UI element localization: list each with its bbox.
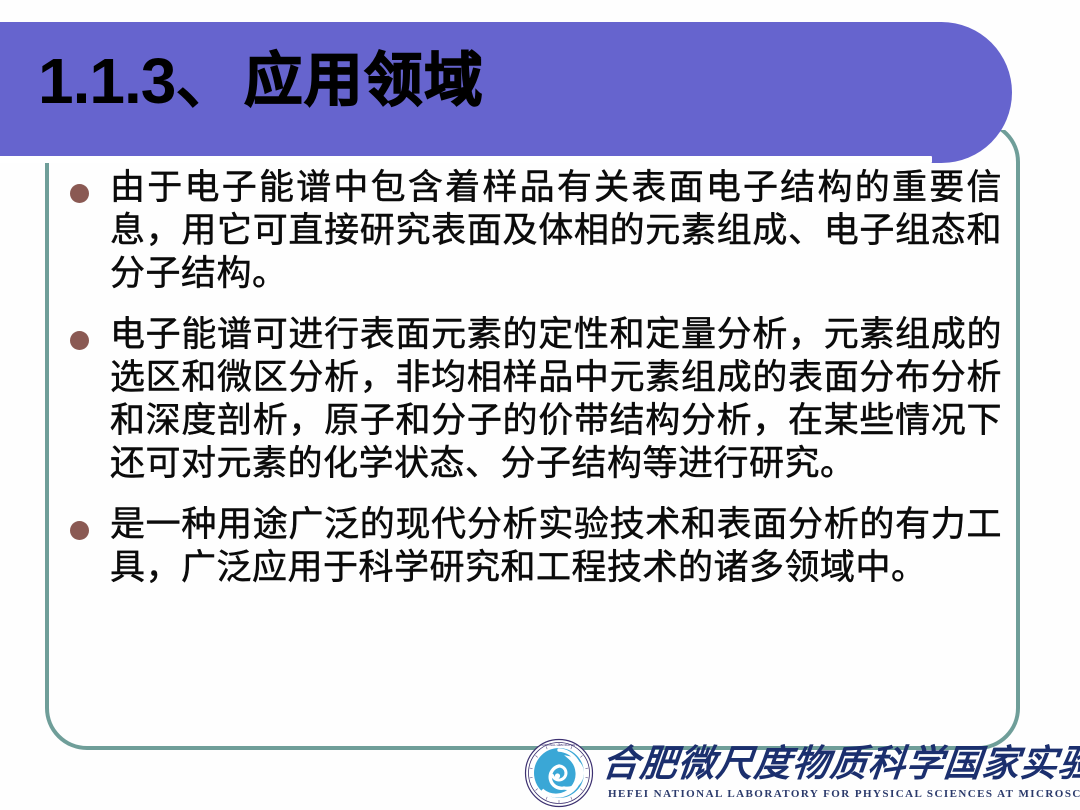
title-number: 1.1.3、 (38, 49, 238, 113)
bullet-text: 由于电子能谱中包含着样品有关表面电子结构的重要信息，用它可直接研究表面及体相的元… (110, 166, 1002, 295)
bullet-dot-icon (70, 184, 89, 203)
page-title: 1.1.3、 应用领域 (38, 38, 938, 124)
list-item: 由于电子能谱中包含着样品有关表面电子结构的重要信息，用它可直接研究表面及体相的元… (62, 166, 1002, 295)
bullet-text: 是一种用途广泛的现代分析实验技术和表面分析的有力工具，广泛应用于科学研究和工程技… (110, 503, 1002, 589)
header-rule-divider (0, 156, 932, 163)
list-item: 电子能谱可进行表面元素的定性和定量分析，元素组成的选区和微区分析，非均相样品中元… (62, 313, 1002, 485)
organization-name-cn: 合肥微尺度物质科学国家实验室(筹) (600, 745, 1080, 785)
bullet-dot-icon (70, 521, 89, 540)
title-heading-cjk: 应用领域 (244, 52, 484, 110)
list-item: 是一种用途广泛的现代分析实验技术和表面分析的有力工具，广泛应用于科学研究和工程技… (62, 503, 1002, 589)
bullet-list: 由于电子能谱中包含着样品有关表面电子结构的重要信息，用它可直接研究表面及体相的元… (62, 166, 1002, 607)
logo-text-block: 合肥微尺度物质科学国家实验室(筹) HEFEI NATIONAL LABORAT… (602, 745, 1080, 801)
spiral-seal-icon: NATIONAL LABORATORY (524, 738, 594, 808)
bullet-dot-icon (70, 331, 89, 350)
slide-canvas: 1.1.3、 应用领域 由于电子能谱中包含着样品有关表面电子结构的重要信息，用它… (0, 0, 1080, 810)
organization-name-en: HEFEI NATIONAL LABORATORY FOR PHYSICAL S… (608, 787, 1080, 801)
bullet-text: 电子能谱可进行表面元素的定性和定量分析，元素组成的选区和微区分析，非均相样品中元… (110, 313, 1002, 485)
footer-logo: NATIONAL LABORATORY (524, 736, 1080, 810)
